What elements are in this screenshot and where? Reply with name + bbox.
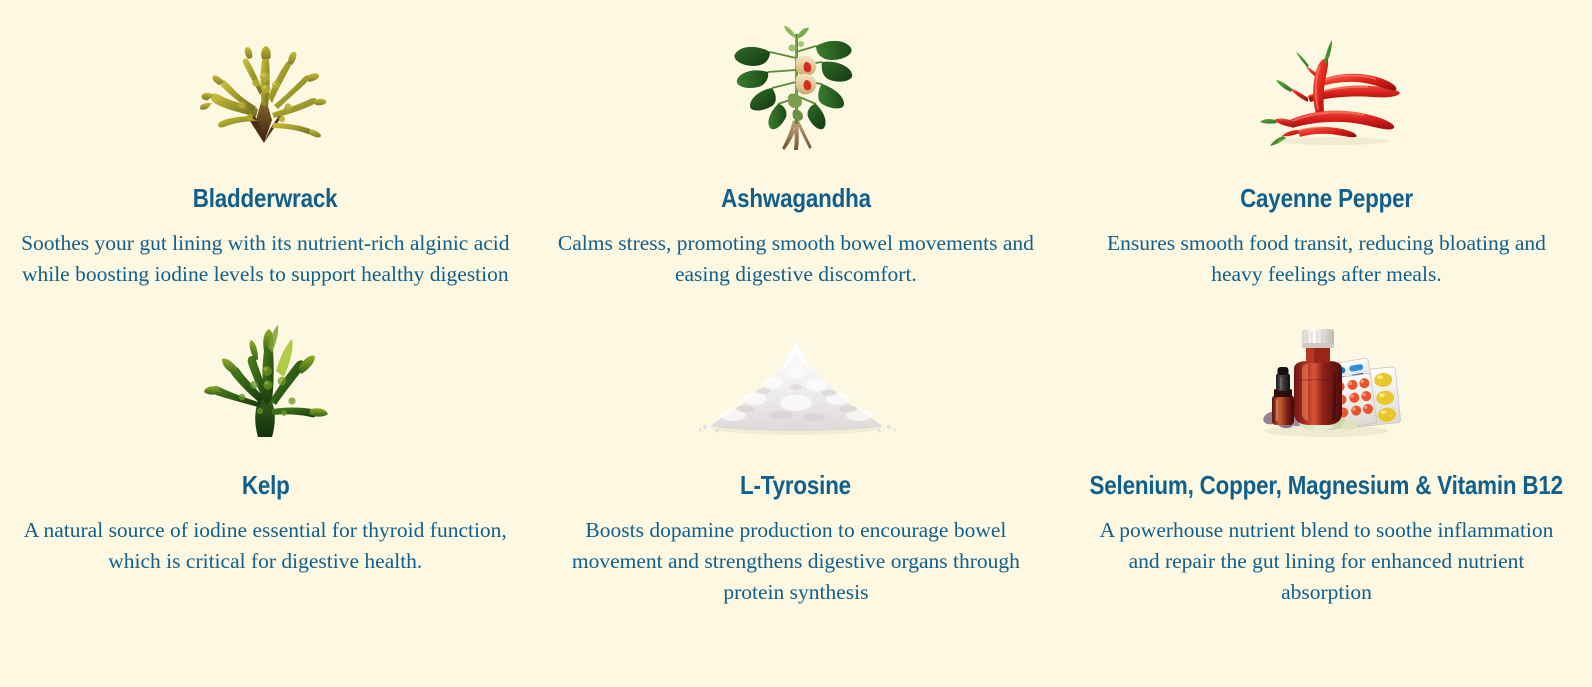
ingredient-card-ashwagandha: Ashwagandha Calms stress, promoting smoo… (531, 0, 1062, 299)
ingredient-card-bladderwrack: Bladderwrack Soothes your gut lining wit… (0, 0, 531, 299)
ingredient-description: Calms stress, promoting smooth bowel mov… (556, 228, 1036, 290)
ingredient-title: Kelp (241, 472, 289, 498)
ingredient-description: A natural source of iodine essential for… (19, 515, 511, 577)
ingredient-title: Selenium, Copper, Magnesium & Vitamin B1… (1090, 472, 1563, 498)
kelp-image-wrap (0, 299, 531, 439)
cayenne-pepper-chilies-image (1246, 32, 1406, 150)
cayenne-pepper-image-wrap (1061, 0, 1592, 150)
bladderwrack-image-wrap (0, 0, 531, 150)
supplements-bottles-pills-image (1250, 321, 1402, 439)
ingredients-grid: Bladderwrack Soothes your gut lining wit… (0, 0, 1592, 687)
ingredient-title: Bladderwrack (193, 185, 338, 211)
l-tyrosine-image-wrap (531, 299, 1062, 439)
kelp-seaweed-image (198, 319, 333, 439)
ingredient-description: A powerhouse nutrient blend to soothe in… (1086, 515, 1566, 608)
ashwagandha-image-wrap (531, 0, 1062, 150)
ingredient-description: Soothes your gut lining with its nutrien… (19, 228, 511, 290)
white-powder-mound-image (693, 327, 899, 439)
ingredient-description: Ensures smooth food transit, reducing bl… (1086, 228, 1566, 290)
supplements-image-wrap (1061, 299, 1592, 439)
ingredient-title: Cayenne Pepper (1240, 185, 1413, 211)
ingredient-title: L-Tyrosine (740, 472, 851, 498)
ingredient-card-l-tyrosine: L-Tyrosine Boosts dopamine production to… (531, 299, 1062, 625)
ingredient-card-selenium-copper-magnesium-b12: Selenium, Copper, Magnesium & Vitamin B1… (1061, 299, 1592, 625)
bladderwrack-seaweed-image (190, 25, 340, 150)
ashwagandha-plant-image (726, 18, 866, 150)
ingredient-card-kelp: Kelp A natural source of iodine essentia… (0, 299, 531, 625)
ingredient-description: Boosts dopamine production to encourage … (556, 515, 1036, 608)
ingredient-card-cayenne-pepper: Cayenne Pepper Ensures smooth food trans… (1061, 0, 1592, 299)
ingredient-title: Ashwagandha (721, 185, 871, 211)
